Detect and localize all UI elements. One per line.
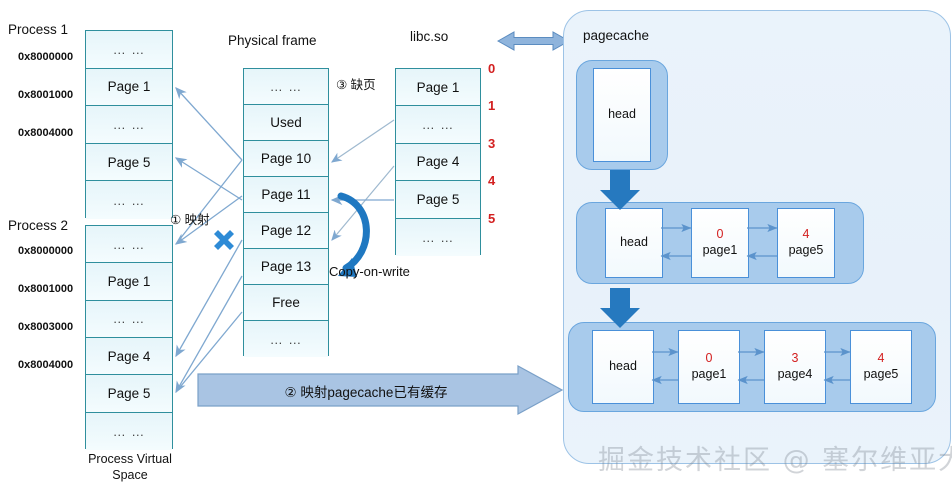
process2-address-1: 0x8001000 (18, 283, 73, 295)
process2-page-row-2-label: … … (113, 311, 146, 326)
physical-frame-row-7: … … (244, 321, 328, 357)
libc-page-row-2: Page 4 (396, 144, 480, 181)
process1-page-row-0: … … (86, 31, 172, 69)
pagecache-node-index: 0 (706, 351, 713, 367)
pagecache-node-index: 0 (717, 227, 724, 243)
libc-page-row-4-label: … … (422, 230, 455, 245)
libc-page-row-2-label: Page 4 (417, 154, 460, 169)
pagecache-node-index: 4 (878, 351, 885, 367)
libc-page-row-0-label: Page 1 (417, 80, 460, 95)
process1-page-row-4-label: … … (113, 193, 146, 208)
physical-frame-title: Physical frame (228, 33, 317, 48)
diagram-canvas: Process 1 0x8000000 0x8001000 0x8004000 … (0, 0, 952, 489)
watermark-text: 掘金技术社区 @ 塞尔维亚大汉 (598, 438, 952, 477)
libc-page-row-4: … … (396, 219, 480, 256)
process1-title: Process 1 (8, 22, 68, 37)
pagecache-node-label: page1 (703, 243, 738, 259)
pagecache-node-label: head (620, 235, 648, 251)
process1-address-2: 0x8004000 (18, 127, 73, 139)
physical-frame-row-4: Page 12 (244, 213, 328, 249)
libc-page-index-0: 0 (488, 61, 495, 76)
pagecache-node-label: head (609, 359, 637, 375)
pagecache-stage-3-node-2: 3page4 (764, 330, 826, 404)
pagecache-stage-3-node-0: head (592, 330, 654, 404)
caption-line-2: Space (112, 468, 147, 482)
process1-page-row-4: … … (86, 181, 172, 219)
physical-frame-row-2: Page 10 (244, 141, 328, 177)
annotation-step1-mapping: ① 映射 (170, 209, 210, 228)
step2-banner-label: ② 映射pagecache已有缓存 (196, 381, 536, 401)
physical-frame-row-6: Free (244, 285, 328, 321)
pagecache-node-label: head (608, 107, 636, 123)
process1-page-row-2-label: … … (113, 117, 146, 132)
pagecache-stage-1-node-0: head (593, 68, 651, 162)
process2-page-row-1-label: Page 1 (108, 274, 151, 289)
pagecache-stage-2-node-0: head (605, 208, 663, 278)
process1-page-row-1: Page 1 (86, 69, 172, 107)
physical-frame-table: … …UsedPage 10Page 11Page 12Page 13Free…… (243, 68, 329, 356)
physical-frame-row-6-label: Free (272, 295, 300, 310)
process1-address-1: 0x8001000 (18, 89, 73, 101)
process1-address-0: 0x8000000 (18, 51, 73, 63)
process1-page-row-3-label: Page 5 (108, 155, 151, 170)
process2-page-row-3-label: Page 4 (108, 349, 151, 364)
physical-frame-row-2-label: Page 10 (261, 151, 311, 166)
process2-address-3: 0x8004000 (18, 359, 73, 371)
process2-page-row-2: … … (86, 301, 172, 338)
pagecache-title: pagecache (583, 28, 649, 43)
process2-page-row-1: Page 1 (86, 263, 172, 300)
pagecache-stage-3-node-3: 4page5 (850, 330, 912, 404)
libc-page-row-1: … … (396, 106, 480, 143)
pagecache-node-label: page5 (864, 367, 899, 383)
physical-frame-row-1-label: Used (270, 115, 302, 130)
blocked-x-icon (206, 222, 246, 262)
stage2-to-stage3-arrow (600, 288, 644, 330)
physical-frame-row-4-label: Page 12 (261, 223, 311, 238)
pagecache-node-label: page1 (692, 367, 727, 383)
pagecache-stage-3-node-1: 0page1 (678, 330, 740, 404)
pagecache-node-label: page5 (789, 243, 824, 259)
physical-frame-row-1: Used (244, 105, 328, 141)
caption-line-1: Process Virtual (88, 452, 172, 466)
physical-frame-row-5: Page 13 (244, 249, 328, 285)
process2-title: Process 2 (8, 218, 68, 233)
annotation-copy-on-write: Copy-on-write (329, 264, 410, 279)
libc-page-index-4: 5 (488, 211, 495, 226)
physical-frame-row-0-label: … … (270, 79, 303, 94)
libc-page-row-1-label: … … (422, 117, 455, 132)
physical-frame-row-3: Page 11 (244, 177, 328, 213)
process2-page-row-5-label: … … (113, 424, 146, 439)
libc-page-index-3: 4 (488, 173, 495, 188)
process2-virtual-space-table: … …Page 1… …Page 4Page 5… … (85, 225, 173, 449)
process2-page-row-4-label: Page 5 (108, 386, 151, 401)
physical-frame-row-7-label: … … (270, 332, 303, 347)
libc-page-row-3: Page 5 (396, 181, 480, 218)
physical-frame-row-5-label: Page 13 (261, 259, 311, 274)
process-virtual-space-caption: Process Virtual Space (80, 452, 180, 483)
process2-page-row-0: … … (86, 226, 172, 263)
process1-page-row-3: Page 5 (86, 144, 172, 182)
pagecache-node-index: 4 (803, 227, 810, 243)
pagecache-node-index: 3 (792, 351, 799, 367)
process2-page-row-3: Page 4 (86, 338, 172, 375)
process1-virtual-space-table: … …Page 1… …Page 5… … (85, 30, 173, 218)
pagecache-stage-2-node-2: 4page5 (777, 208, 835, 278)
process1-page-row-2: … … (86, 106, 172, 144)
pagecache-node-label: page4 (778, 367, 813, 383)
process2-page-row-0-label: … … (113, 237, 146, 252)
physical-frame-row-0: … … (244, 69, 328, 105)
libc-title: libc.so (410, 29, 448, 44)
pagecache-stage-2-node-1: 0page1 (691, 208, 749, 278)
physical-frame-row-3-label: Page 11 (261, 187, 310, 202)
libc-page-row-3-label: Page 5 (417, 192, 460, 207)
libc-page-row-0: Page 1 (396, 69, 480, 106)
process2-page-row-5: … … (86, 413, 172, 450)
libc-page-index-2: 3 (488, 136, 495, 151)
stage1-to-stage2-arrow (600, 170, 644, 212)
process1-page-row-1-label: Page 1 (108, 79, 151, 94)
annotation-step3-page-fault: ③ 缺页 (336, 74, 376, 93)
process2-address-2: 0x8003000 (18, 321, 73, 333)
libc-file-table: Page 1… …Page 4Page 5… … (395, 68, 481, 255)
libc-page-index-1: 1 (488, 98, 495, 113)
process2-page-row-4: Page 5 (86, 375, 172, 412)
process2-address-0: 0x8000000 (18, 245, 73, 257)
process1-page-row-0-label: … … (113, 42, 146, 57)
